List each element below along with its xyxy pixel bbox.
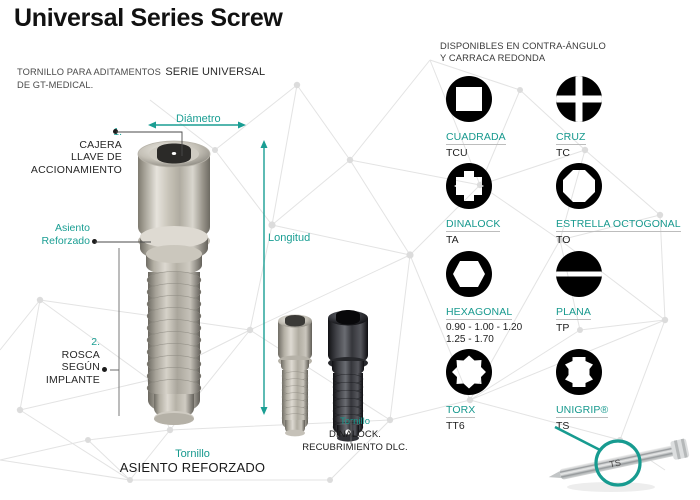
intro-text: TORNILLO PARA ADITAMENTOS SERIE UNIVERSA… <box>17 64 277 92</box>
connection-name-cuadrada: CUADRADA <box>446 131 506 145</box>
callout-rosca: 2. ROSCA SEGÚN IMPLANTE <box>10 336 100 386</box>
hexagon-socket-icon <box>446 251 492 297</box>
intro-line1: TORNILLO PARA ADITAMENTOS <box>17 67 161 77</box>
intro-line2: DE GT-MEDICAL. <box>17 79 277 92</box>
connection-code-hexagonal-line1: 0.90 - 1.00 - 1.20 <box>446 322 566 334</box>
callout-cajera: 1. CAJERA LLAVE DE ACCIONAMIENTO <box>10 126 122 176</box>
connection-name-dinalock: DINALOCK <box>446 218 500 232</box>
connection-item-cruz[interactable]: CRUZ TC <box>556 76 676 159</box>
caption-main-bottom: ASIENTO REFORZADO <box>95 461 290 474</box>
callout-asiento-line1: Asiento <box>10 222 90 235</box>
connection-code-estrella-octogonal: TO <box>556 234 696 246</box>
callout-asiento-leader <box>95 232 155 248</box>
cross-socket-icon <box>556 76 602 122</box>
connection-item-cuadrada[interactable]: CUADRADA TCU <box>446 76 566 159</box>
unigrip-socket-icon <box>556 349 602 395</box>
connection-name-plana: PLANA <box>556 306 591 320</box>
connection-code-plana: TP <box>556 322 676 334</box>
callout-asiento-line2: Reforzado <box>10 235 90 248</box>
page-title: Universal Series Screw <box>14 4 283 33</box>
callout-rosca-leader <box>108 248 128 423</box>
connection-item-torx[interactable]: TORX TT6 <box>446 349 566 432</box>
connection-name-hexagonal: HEXAGONAL <box>446 306 512 320</box>
connection-code-cuadrada: TCU <box>446 147 566 159</box>
connection-item-dinalock[interactable]: DINALOCK TA <box>446 163 566 246</box>
length-dimension-label: Longitud <box>268 232 310 244</box>
length-arrow <box>256 140 272 415</box>
connection-item-plana[interactable]: PLANA TP <box>556 251 676 334</box>
callout-rosca-line3: IMPLANTE <box>10 374 100 387</box>
connection-item-hexagonal[interactable]: HEXAGONAL 0.90 - 1.00 - 1.20 1.25 - 1.70 <box>446 251 566 345</box>
callout-cajera-line1: CAJERA <box>10 139 122 152</box>
caption-dinalock-leader <box>345 420 357 446</box>
square-socket-icon <box>446 76 492 122</box>
callout-cajera-number: 1. <box>10 126 122 139</box>
unigrip-driver-illustration: TS <box>545 425 700 497</box>
callout-rosca-line1: ROSCA <box>10 349 100 362</box>
connections-header: DISPONIBLES EN CONTRA-ÁNGULO Y CARRACA R… <box>440 40 606 64</box>
driver-tip-marking: TS <box>608 457 621 469</box>
poster-canvas: Universal Series Screw TORNILLO PARA ADI… <box>0 0 700 500</box>
callout-cajera-line3: ACCIONAMIENTO <box>10 164 122 177</box>
connection-item-estrella-octogonal[interactable]: ESTRELLA OCTOGONAL TO <box>556 163 696 246</box>
caption-main-screw: Tornillo ASIENTO REFORZADO <box>95 448 290 474</box>
callout-rosca-dot <box>102 367 107 372</box>
connections-header-line2: Y CARRACA REDONDA <box>440 52 606 64</box>
torx-socket-icon <box>446 349 492 395</box>
flat-slot-socket-icon <box>556 251 602 297</box>
callout-rosca-line2: SEGÚN <box>10 361 100 374</box>
main-screw-illustration <box>128 132 240 432</box>
callout-asiento: Asiento Reforzado <box>10 222 90 247</box>
callout-cajera-line2: LLAVE DE <box>10 151 122 164</box>
dinalock-socket-icon <box>446 163 492 209</box>
intro-series-name: SERIE UNIVERSAL <box>165 66 265 78</box>
callout-rosca-number: 2. <box>10 336 100 349</box>
connections-header-line1: DISPONIBLES EN CONTRA-ÁNGULO <box>440 40 606 52</box>
connection-code-cruz: TC <box>556 147 676 159</box>
connection-name-unigrip: UNIGRIP® <box>556 404 608 418</box>
connection-item-unigrip[interactable]: UNIGRIP® TS <box>556 349 676 432</box>
octagon-socket-icon <box>556 163 602 209</box>
connection-name-estrella-octogonal: ESTRELLA OCTOGONAL <box>556 218 681 232</box>
callout-cajera-leader <box>114 128 204 158</box>
connection-name-torx: TORX <box>446 404 475 418</box>
connection-name-cruz: CRUZ <box>556 131 586 145</box>
connection-code-hexagonal-line2: 1.25 - 1.70 <box>446 334 566 346</box>
connection-code-dinalock: TA <box>446 234 566 246</box>
